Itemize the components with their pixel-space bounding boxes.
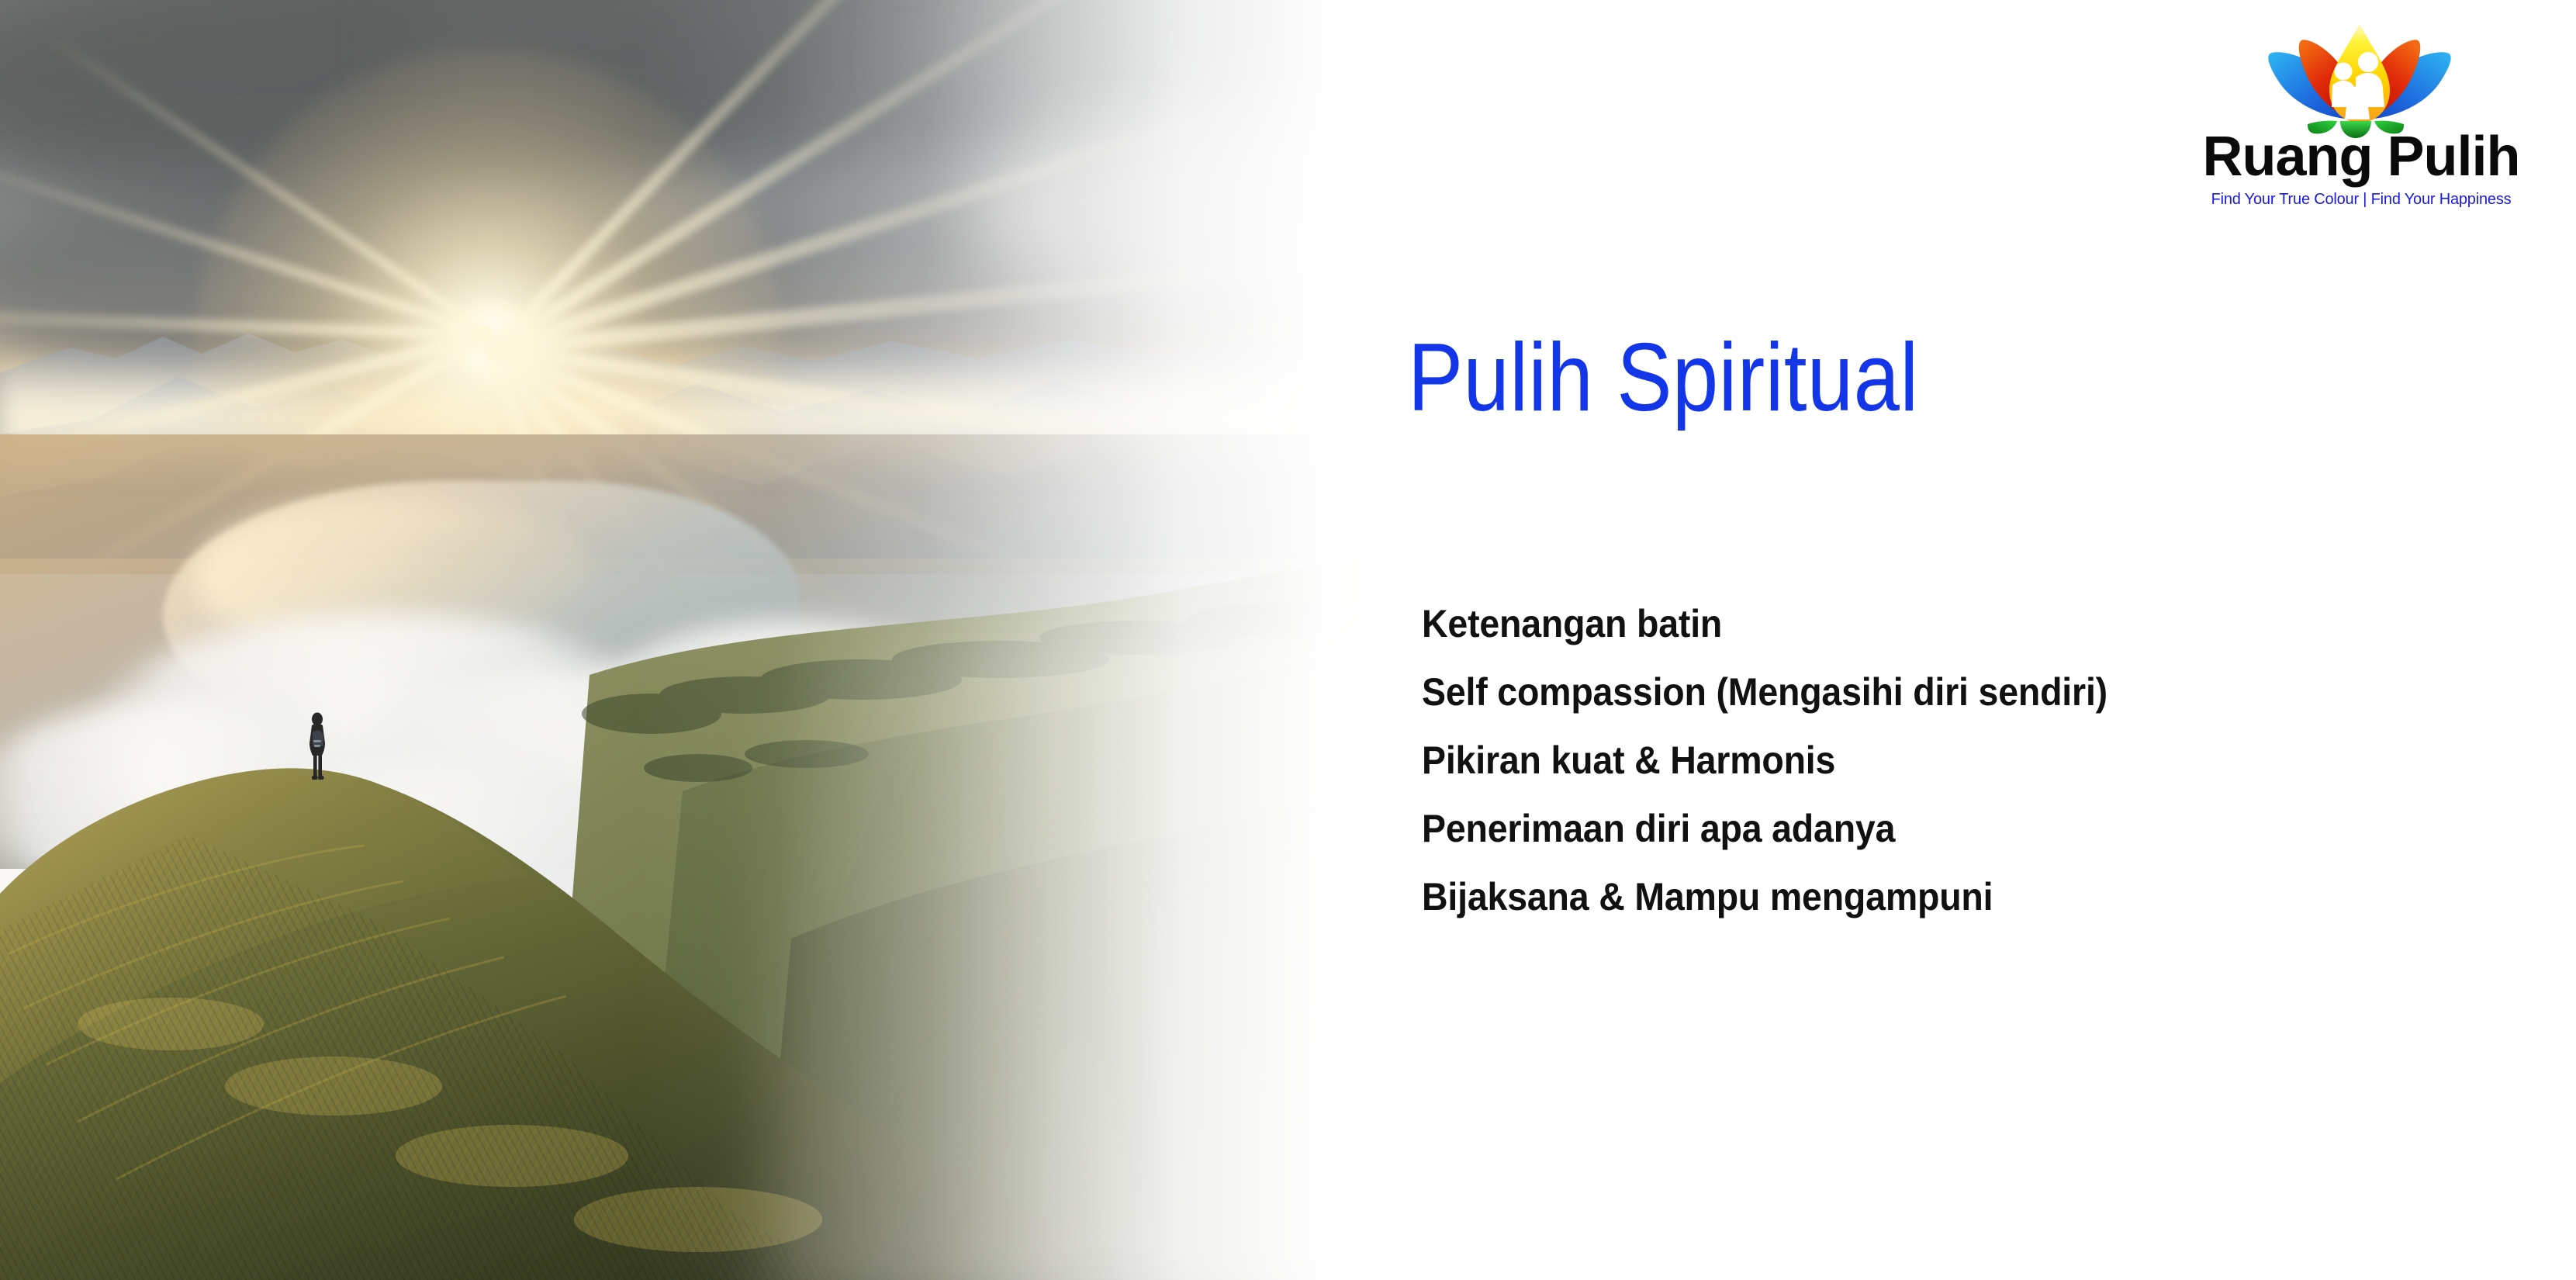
mountain-sunrise-hiker-photo — [0, 0, 1443, 1280]
logo-tagline: Find Your True Colour | Find Your Happin… — [2163, 191, 2559, 209]
ruang-pulih-logo[interactable]: Ruang Pulih Find Your True Colour | Find… — [2163, 14, 2559, 169]
list-item: Ketenangan batin — [1422, 590, 2446, 658]
slide-canvas: Ruang Pulih Find Your True Colour | Find… — [0, 0, 2576, 1280]
hiker-silhouette — [305, 712, 331, 782]
list-item: Bijaksana & Mampu mengampuni — [1422, 863, 2446, 931]
logo-wordmark: Ruang Pulih — [2163, 129, 2559, 185]
list-item: Pikiran kuat & Harmonis — [1422, 726, 2446, 794]
list-item: Penerimaan diri apa adanya — [1422, 794, 2446, 863]
page-title: Pulih Spiritual — [1408, 330, 1918, 426]
list-item: Self compassion (Mengasihi diri sendiri) — [1422, 658, 2446, 726]
photo-canvas — [0, 0, 1443, 1280]
lotus-flame-family-logo-icon — [2263, 14, 2457, 138]
sun-flare-overlay — [760, 636, 1443, 1280]
bullet-list: Ketenangan batin Self compassion (Mengas… — [1422, 590, 2523, 931]
